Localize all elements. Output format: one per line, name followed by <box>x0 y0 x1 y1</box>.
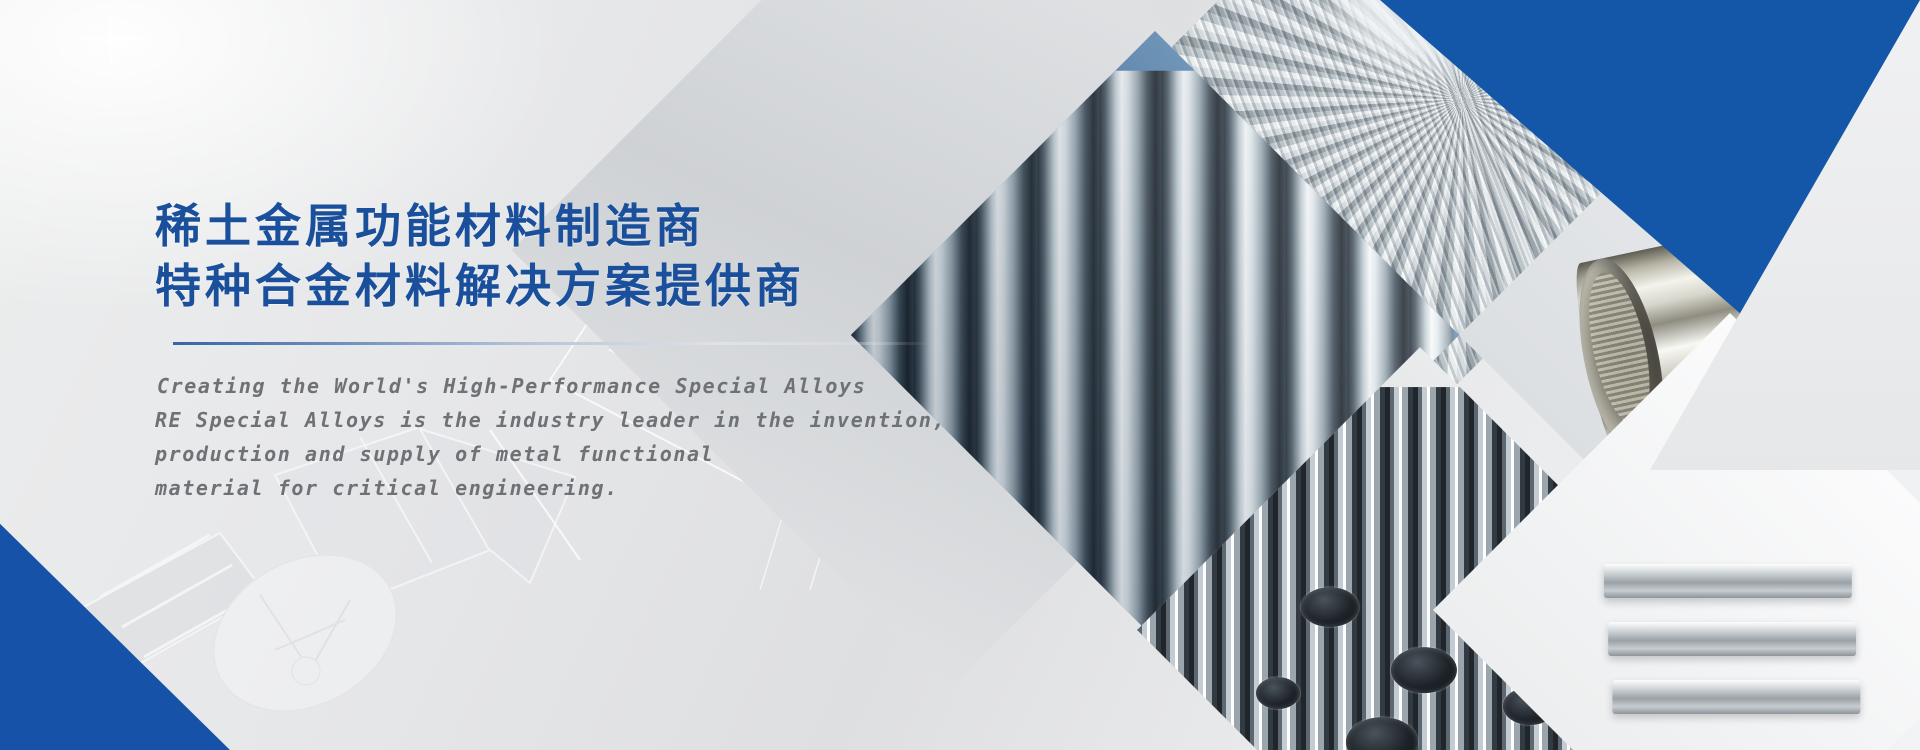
subtitle-line-4: material for critical engineering. <box>155 471 1055 505</box>
hero-text-block: 稀土金属功能材料制造商 特种合金材料解决方案提供商 Creating the W… <box>155 196 1055 505</box>
hero-banner: 稀土金属功能材料制造商 特种合金材料解决方案提供商 Creating the W… <box>0 0 1920 750</box>
subtitle-line-2: RE Special Alloys is the industry leader… <box>155 403 1055 437</box>
lens-flare-star-icon <box>110 38 112 40</box>
headline-divider <box>173 342 933 345</box>
headline-line-2: 特种合金材料解决方案提供商 <box>155 256 1055 316</box>
subtitle-line-3: production and supply of metal functiona… <box>155 437 1055 471</box>
headline-line-1: 稀土金属功能材料制造商 <box>155 196 1055 256</box>
subtitle-line-1: Creating the World's High-Performance Sp… <box>157 369 1055 403</box>
